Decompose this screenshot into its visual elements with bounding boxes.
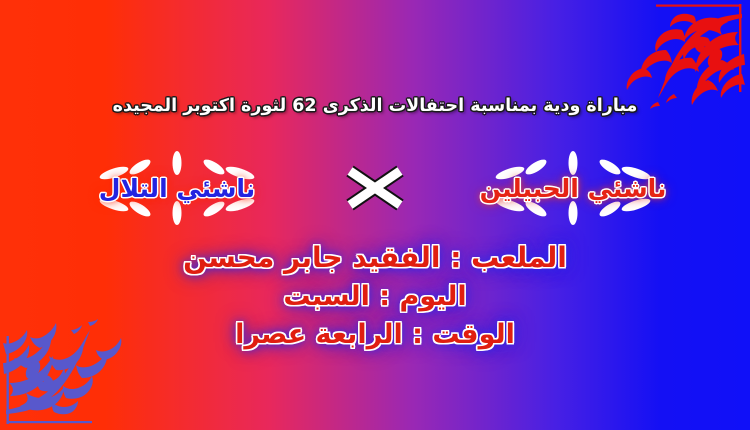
detail-day: اليوم : السبت bbox=[0, 278, 750, 316]
match-details: الملعب : الفقيد جابر محسن اليوم : السبت … bbox=[0, 238, 750, 354]
detail-venue: الملعب : الفقيد جابر محسن bbox=[0, 238, 750, 278]
team-right-name: ناشئي الحبيلين bbox=[480, 176, 667, 201]
versus-x-icon bbox=[340, 160, 410, 216]
team-right-block: ناشئي الحبيلين bbox=[423, 152, 723, 224]
detail-time: الوقت : الرابعة عصرا bbox=[0, 316, 750, 354]
team-left-name: ناشئي التلال bbox=[99, 176, 255, 201]
match-announcement-poster: مباراة ودية بمناسبة احتفالات الذكرى 62 ل… bbox=[0, 0, 750, 430]
team-left-block: ناشئي التلال bbox=[27, 152, 327, 224]
match-teams-row: ناشئي الحبيلين bbox=[0, 152, 750, 224]
versus-block bbox=[327, 152, 423, 224]
page-title: مباراة ودية بمناسبة احتفالات الذكرى 62 ل… bbox=[0, 96, 750, 116]
